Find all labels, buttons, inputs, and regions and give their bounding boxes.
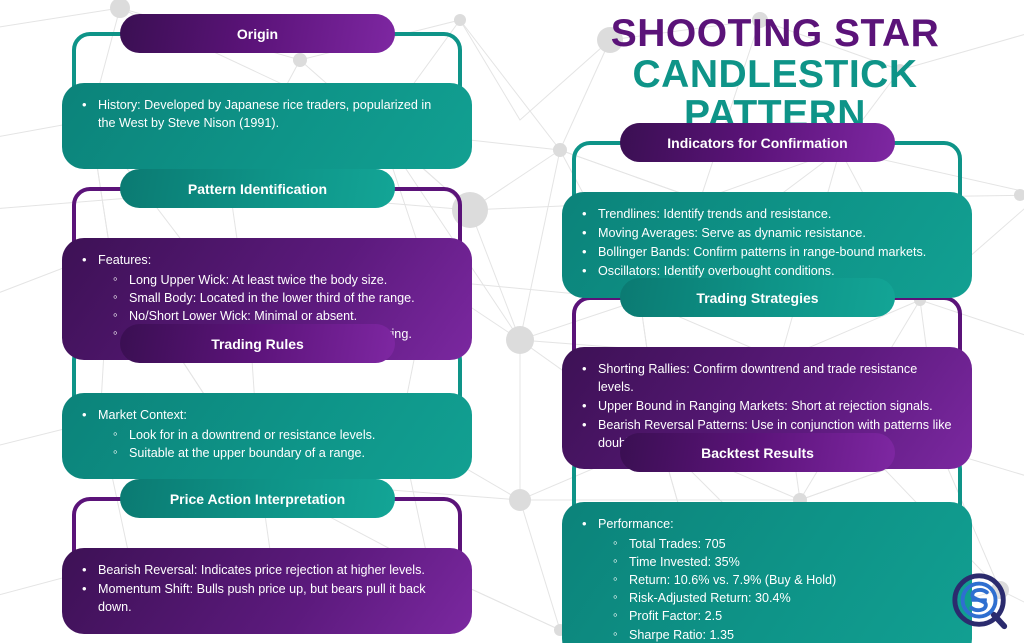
sub-list-wrapper: Look for in a downtrend or resistance le… [98, 426, 452, 462]
list-item-text: Oscillators: Identify overbought conditi… [598, 264, 835, 278]
bullet-list: Market Context:Look for in a downtrend o… [80, 407, 452, 462]
sub-list-item: Sharpe Ratio: 1.35 [612, 626, 952, 643]
card-body-origin: History: Developed by Japanese rice trad… [62, 83, 472, 169]
card-body-trading-rules: Market Context:Look for in a downtrend o… [62, 393, 472, 479]
sub-list-wrapper: Total Trades: 705Time Invested: 35%Retur… [598, 535, 952, 643]
list-item: Trendlines: Identify trends and resistan… [580, 206, 952, 224]
card-header-pattern-identification[interactable]: Pattern Identification [120, 169, 395, 208]
sub-list-item: Profit Factor: 2.5 [612, 607, 952, 625]
list-item-text: Trendlines: Identify trends and resistan… [598, 207, 831, 221]
sub-list-item: Small Body: Located in the lower third o… [112, 289, 452, 307]
sub-list-item: Long Upper Wick: At least twice the body… [112, 271, 452, 289]
card-header-trading-strategies[interactable]: Trading Strategies [620, 278, 895, 317]
sub-list-item: Risk-Adjusted Return: 30.4% [612, 589, 952, 607]
list-item: Moving Averages: Serve as dynamic resist… [580, 225, 952, 243]
sub-bullet-list: Look for in a downtrend or resistance le… [112, 426, 452, 462]
card-header-origin[interactable]: Origin [120, 14, 395, 53]
list-item-text: Features: [98, 253, 151, 267]
brand-logo-icon [950, 571, 1012, 633]
card-header-backtest-results[interactable]: Backtest Results [620, 433, 895, 472]
list-item-text: Bearish Reversal: Indicates price reject… [98, 563, 425, 577]
infographic-page: SHOOTING STAR CANDLESTICK PATTERN Origin… [0, 0, 1024, 643]
sub-list-item: No/Short Lower Wick: Minimal or absent. [112, 307, 452, 325]
list-item-text: Moving Averages: Serve as dynamic resist… [598, 226, 866, 240]
bullet-list: Performance:Total Trades: 705Time Invest… [580, 516, 952, 643]
page-title: SHOOTING STAR CANDLESTICK PATTERN [540, 14, 1010, 136]
list-item-text: Bollinger Bands: Confirm patterns in ran… [598, 245, 926, 259]
card-body-backtest-results: Performance:Total Trades: 705Time Invest… [562, 502, 972, 643]
bullet-list: Trendlines: Identify trends and resistan… [580, 206, 952, 281]
sub-list-item: Total Trades: 705 [612, 535, 952, 553]
title-line-1: SHOOTING STAR [540, 14, 1010, 55]
card-body-price-action-interpretation: Bearish Reversal: Indicates price reject… [62, 548, 472, 634]
list-item-text: History: Developed by Japanese rice trad… [98, 98, 431, 130]
list-item-text: Upper Bound in Ranging Markets: Short at… [598, 399, 933, 413]
list-item: Bollinger Bands: Confirm patterns in ran… [580, 244, 952, 262]
list-item: Market Context:Look for in a downtrend o… [80, 407, 452, 462]
sub-bullet-list: Total Trades: 705Time Invested: 35%Retur… [612, 535, 952, 643]
list-item-text: Performance: [598, 517, 674, 531]
list-item: Shorting Rallies: Confirm downtrend and … [580, 361, 952, 397]
list-item: Upper Bound in Ranging Markets: Short at… [580, 398, 952, 416]
list-item-text: Momentum Shift: Bulls push price up, but… [98, 582, 426, 614]
bullet-list: Bearish Reversal: Indicates price reject… [80, 562, 452, 617]
card-header-indicators-for-confirmation[interactable]: Indicators for Confirmation [620, 123, 895, 162]
sub-list-item: Look for in a downtrend or resistance le… [112, 426, 452, 444]
sub-list-item: Suitable at the upper boundary of a rang… [112, 444, 452, 462]
list-item-text: Market Context: [98, 408, 187, 422]
list-item: Bearish Reversal: Indicates price reject… [80, 562, 452, 580]
card-header-trading-rules[interactable]: Trading Rules [120, 324, 395, 363]
list-item-text: Shorting Rallies: Confirm downtrend and … [598, 362, 917, 394]
sub-list-item: Return: 10.6% vs. 7.9% (Buy & Hold) [612, 571, 952, 589]
card-header-price-action-interpretation[interactable]: Price Action Interpretation [120, 479, 395, 518]
sub-list-item: Time Invested: 35% [612, 553, 952, 571]
bullet-list: History: Developed by Japanese rice trad… [80, 97, 452, 133]
list-item: Momentum Shift: Bulls push price up, but… [80, 581, 452, 617]
list-item: Performance:Total Trades: 705Time Invest… [580, 516, 952, 643]
list-item: History: Developed by Japanese rice trad… [80, 97, 452, 133]
